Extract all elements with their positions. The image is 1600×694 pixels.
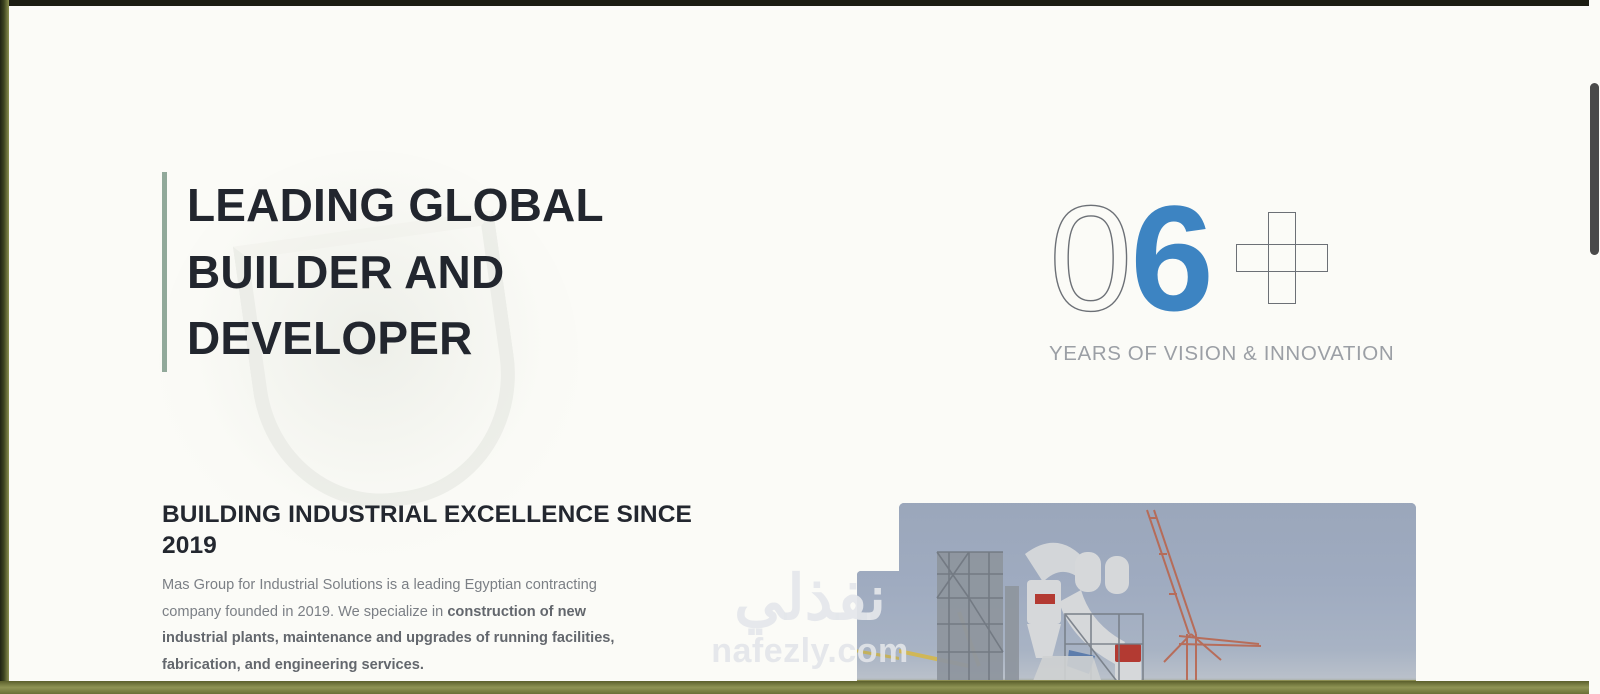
section-body-copy: Mas Group for Industrial Solutions is a … (162, 572, 647, 678)
years-counter-caption: YEARS OF VISION & INNOVATION (1049, 342, 1449, 366)
headline-accent-bar (162, 172, 167, 372)
section-subheading: BUILDING INDUSTRIAL EXCELLENCE SINCE 201… (162, 500, 702, 562)
page-scrollbar-thumb[interactable] (1590, 83, 1599, 255)
hero-photo-scene-main (899, 503, 1416, 682)
hero-photo-block (829, 494, 1429, 682)
hero-photo-main (899, 503, 1416, 682)
plus-icon (1236, 212, 1328, 304)
browser-viewport: LEADING GLOBAL BUILDER AND DEVELOPER 0 6… (0, 0, 1600, 694)
years-counter-digits: 0 6 (1049, 188, 1449, 328)
hero-headline-block: LEADING GLOBAL BUILDER AND DEVELOPER (162, 172, 604, 372)
page-title: LEADING GLOBAL BUILDER AND DEVELOPER (187, 172, 604, 372)
counter-digit-solid: 6 (1130, 183, 1213, 333)
page-scrollbar-track[interactable] (1589, 0, 1600, 694)
hero-slide: LEADING GLOBAL BUILDER AND DEVELOPER 0 6… (9, 6, 1589, 682)
bottom-frame-edge (0, 681, 1600, 694)
plus-icon-horizontal-bar (1236, 244, 1328, 272)
years-counter-block: 0 6 YEARS OF VISION & INNOVATION (1049, 188, 1449, 366)
counter-digit-outlined: 0 (1049, 183, 1132, 333)
left-frame-edge (0, 0, 9, 694)
